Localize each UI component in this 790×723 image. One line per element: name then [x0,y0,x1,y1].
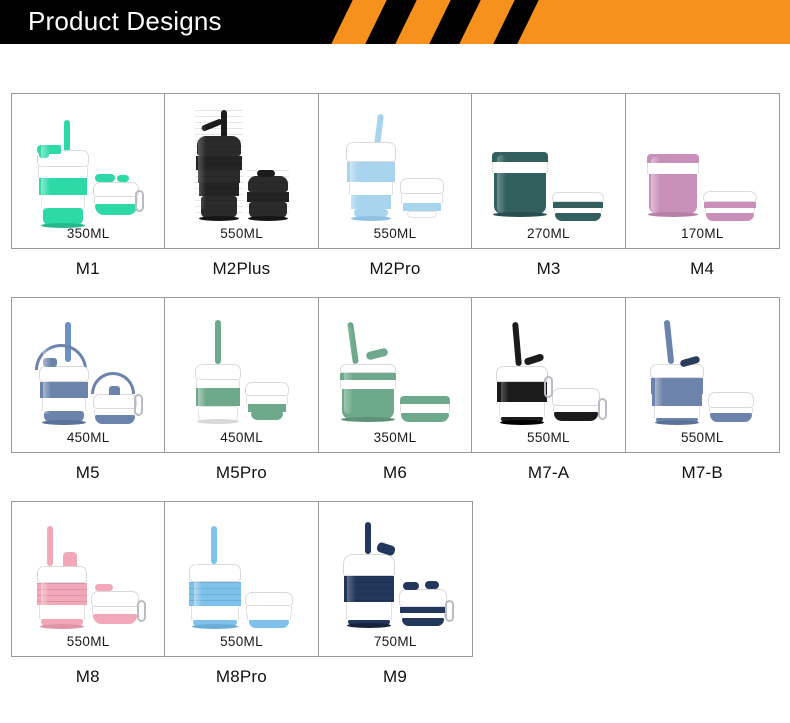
product-cell-m5pro[interactable]: 450ML [165,298,318,452]
capacity-label: 550ML [220,634,263,656]
product-image-m9 [319,506,472,628]
capacity-label: 270ML [527,226,570,248]
product-image-m5 [12,302,164,424]
capacity-label: 550ML [220,226,263,248]
product-name-m2plus: M2Plus [165,259,319,279]
product-row: 350ML [11,93,779,288]
capacity-label: 450ML [220,430,263,452]
stripe-solid-block [514,0,790,44]
product-image-m2plus [165,98,317,220]
stripe-2 [392,0,453,44]
product-row-cells: 550ML [11,501,473,657]
product-image-m7b [626,302,779,424]
product-name-m7b: M7-B [625,463,779,483]
header-stripe-decoration [320,0,790,44]
product-cell-m3[interactable]: 270ML [472,94,625,248]
capacity-label: 550ML [527,430,570,452]
capacity-label: 170ML [681,226,724,248]
product-cell-m8pro[interactable]: 550ML [165,502,318,656]
capacity-label: 550ML [681,430,724,452]
product-image-m6 [319,302,471,424]
product-name-m5: M5 [11,463,165,483]
product-image-m4 [626,98,779,220]
product-name-m4: M4 [625,259,779,279]
product-name-m2pro: M2Pro [318,259,472,279]
product-name-row: M8 M8Pro M9 [11,657,473,696]
product-cell-m5[interactable]: 450ML [12,298,165,452]
product-cell-m2pro[interactable]: 550ML [319,94,472,248]
product-cell-m9[interactable]: 750ML [319,502,472,656]
capacity-label: 350ML [374,430,417,452]
product-cell-m2plus[interactable]: 550ML [165,94,318,248]
capacity-label: 550ML [67,634,110,656]
product-cell-m7b[interactable]: 550ML [626,298,779,452]
product-name-row: M1 M2Plus M2Pro M3 M4 [11,249,780,288]
product-cell-m6[interactable]: 350ML [319,298,472,452]
product-image-m8pro [165,506,317,628]
product-row-cells: 450ML [11,297,780,453]
capacity-label: 550ML [374,226,417,248]
product-grid: 350ML [0,93,790,696]
product-image-m7a [472,302,624,424]
product-image-m2pro [319,98,471,220]
product-image-m3 [472,98,624,220]
product-name-m6: M6 [318,463,472,483]
product-row: 450ML [11,297,779,492]
capacity-label: 750ML [374,634,417,656]
capacity-label: 350ML [67,226,110,248]
page-header: Product Designs [0,0,790,44]
product-name-m8pro: M8Pro [165,667,319,687]
product-name-m7a: M7-A [472,463,626,483]
product-image-m8 [12,506,164,628]
product-name-m8: M8 [11,667,165,687]
product-image-m1 [12,98,164,220]
product-cell-m4[interactable]: 170ML [626,94,779,248]
product-row-cells: 350ML [11,93,780,249]
page-title: Product Designs [28,6,222,37]
product-cell-m7a[interactable]: 550ML [472,298,625,452]
product-name-m9: M9 [318,667,472,687]
product-name-m3: M3 [472,259,626,279]
product-cell-m1[interactable]: 350ML [12,94,165,248]
stripe-1 [328,0,389,44]
product-name-m5pro: M5Pro [165,463,319,483]
product-name-row: M5 M5Pro M6 M7-A M7-B [11,453,780,492]
product-cell-m8[interactable]: 550ML [12,502,165,656]
capacity-label: 450ML [67,430,110,452]
product-image-m5pro [165,302,317,424]
stripe-3 [456,0,517,44]
product-row: 550ML [11,501,779,696]
product-name-m1: M1 [11,259,165,279]
